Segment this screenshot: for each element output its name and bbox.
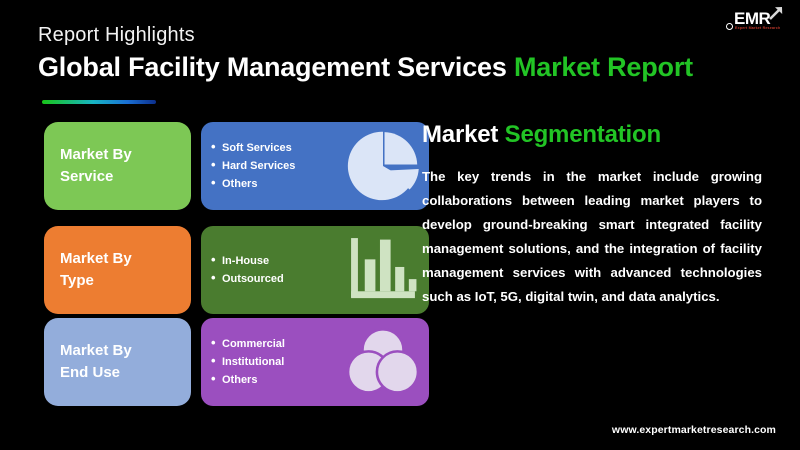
segment-item-list: Soft Services Hard Services Others <box>201 139 326 193</box>
logo-wordmark: EMR <box>734 10 770 27</box>
list-item: Others <box>211 371 326 389</box>
list-item: Outsourced <box>211 270 326 288</box>
segment-label-card-end-use[interactable]: Market By End Use <box>44 318 191 406</box>
market-segmentation-panel: Market Segmentation The key trends in th… <box>422 122 762 309</box>
list-item: Hard Services <box>211 157 326 175</box>
segment-label-card-service[interactable]: Market By Service <box>44 122 191 210</box>
header: Report Highlights Global Facility Manage… <box>0 0 800 112</box>
section-heading: Market Segmentation <box>422 122 762 148</box>
logo-tagline: Expert Market Research <box>735 26 780 30</box>
up-right-arrow-icon <box>768 5 784 21</box>
footer-url[interactable]: www.expertmarketresearch.com <box>612 424 776 436</box>
list-item: Others <box>211 175 326 193</box>
segment-label-text: Market By Service <box>60 144 132 188</box>
segment-item-list: In-House Outsourced <box>201 252 326 288</box>
segment-label-text: Market By End Use <box>60 340 132 384</box>
title-underline-rule <box>42 100 156 104</box>
pie-chart-icon <box>345 128 421 204</box>
venn-diagram-icon <box>345 324 421 400</box>
bar-chart-icon <box>345 232 421 308</box>
list-item: In-House <box>211 252 326 270</box>
segment-detail-card-end-use[interactable]: Commercial Institutional Others <box>201 318 429 406</box>
list-item: Commercial <box>211 335 326 353</box>
emr-logo[interactable]: EMR Expert Market Research <box>718 4 790 40</box>
section-body-text: The key trends in the market include gro… <box>422 165 762 309</box>
section-heading-accent: Segmentation <box>505 121 661 148</box>
segment-label-text: Market By Type <box>60 248 132 292</box>
segment-detail-card-type[interactable]: In-House Outsourced <box>201 226 429 314</box>
segment-detail-card-service[interactable]: Soft Services Hard Services Others <box>201 122 429 210</box>
page-title: Global Facility Management Services Mark… <box>38 53 693 83</box>
page-title-plain: Global Facility Management Services <box>38 52 514 82</box>
logo-circle-icon <box>726 23 733 30</box>
eyebrow-label: Report Highlights <box>38 24 195 47</box>
segment-label-card-type[interactable]: Market By Type <box>44 226 191 314</box>
section-heading-plain: Market <box>422 121 505 148</box>
list-item: Soft Services <box>211 139 326 157</box>
page-title-accent: Market Report <box>514 52 693 82</box>
segment-item-list: Commercial Institutional Others <box>201 335 326 389</box>
list-item: Institutional <box>211 353 326 371</box>
